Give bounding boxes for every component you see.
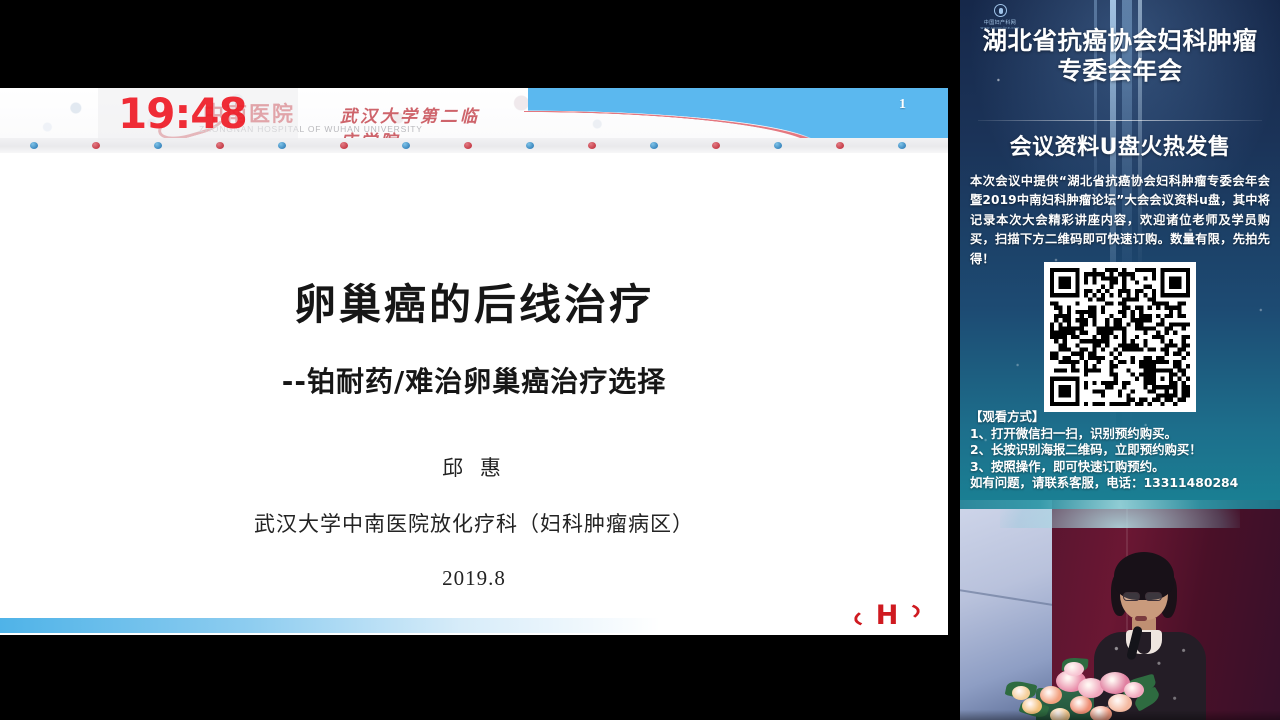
flower [1012,686,1030,700]
stream-clock: 19:48 [118,89,247,138]
slide-subtitle: --铂耐药/难治卵巢癌治疗选择 [282,360,666,400]
speaker-mouth [1135,616,1147,621]
promo-instructions: 【观看方式】1、打开微信扫一扫，识别预约购买。2、长按识别海报二维码，立即预约购… [970,409,1275,492]
flower [1124,682,1144,698]
promo-panel: 中国妇产科网 www.cogonline.com 湖北省抗癌协会妇科肿瘤 专委会… [960,0,1280,500]
org-logo-icon [994,4,1007,17]
speaker-glasses [1123,592,1140,601]
slide-page-number: 1 [899,97,906,113]
divider-dot [464,142,472,149]
presentation-slide: 1 中南医院 ZHONGNAN HOSPITAL OF WUHAN UNIVER… [0,88,948,635]
divider-dot [898,142,906,149]
slide-author: 邱 惠 [442,452,506,482]
divider-dot [92,142,100,149]
speaker-glasses [1145,592,1162,601]
divider-dot [216,142,224,149]
slide-title: 卵巢癌的后线治疗 [294,271,654,332]
slide-divider-dots [0,138,948,153]
divider-dot [526,142,534,149]
flower [1064,662,1084,676]
h-logo-icon: H [854,600,920,630]
slide-video-pane[interactable]: 1 中南医院 ZHONGNAN HOSPITAL OF WUHAN UNIVER… [0,0,960,720]
divider-dot [278,142,286,149]
stage-top-band [960,500,1280,509]
hospital-logo-sub: 武汉大学第二临床学院 [340,102,485,138]
divider-dot [836,142,844,149]
divider-dot [588,142,596,149]
promo-instruction-line: 1、打开微信扫一扫，识别预约购买。 [970,426,1275,443]
qr-code-canvas [1050,268,1190,406]
divider-dot [712,142,720,149]
divider-dot [774,142,782,149]
promo-subtitle: 会议资料U盘火热发售 [960,129,1280,161]
slide-body: 卵巢癌的后线治疗 --铂耐药/难治卵巢癌治疗选择 邱 惠 武汉大学中南医院放化疗… [0,153,948,601]
live-speaker-video[interactable] [960,500,1280,720]
promo-instruction-line: 3、按照操作，即可快速订购预约。 [970,459,1275,476]
h-logo-letter: H [854,600,920,631]
stream-player-window: 1 中南医院 ZHONGNAN HOSPITAL OF WUHAN UNIVER… [0,0,1280,720]
divider-dot [154,142,162,149]
flower [1040,686,1062,704]
org-logo-line1: 中国妇产科网 [972,19,1028,26]
promo-title: 湖北省抗癌协会妇科肿瘤 专委会年会 [960,26,1280,86]
divider-dot [650,142,658,149]
divider-dot [30,142,38,149]
qr-code[interactable] [1044,262,1196,412]
promo-description: 本次会议中提供“湖北省抗癌协会妇科肿瘤专委会年会暨2019中南妇科肿瘤论坛”大会… [970,172,1270,269]
divider-dot [402,142,410,149]
slide-date: 2019.8 [442,566,506,591]
slide-affiliation: 武汉大学中南医院放化疗科（妇科肿瘤病区） [254,508,694,538]
footer-gradient-bar [0,618,660,633]
video-bottom-fade [960,710,1280,720]
promo-instruction-line: 2、长按识别海报二维码，立即预约购买！ [970,442,1275,459]
header-blue-shape [528,88,948,138]
promo-instruction-line: 如有问题，请联系客服，电话：13311480284 [970,475,1275,492]
promo-divider [978,120,1262,121]
divider-dot [340,142,348,149]
slide-footer: H [0,601,948,635]
